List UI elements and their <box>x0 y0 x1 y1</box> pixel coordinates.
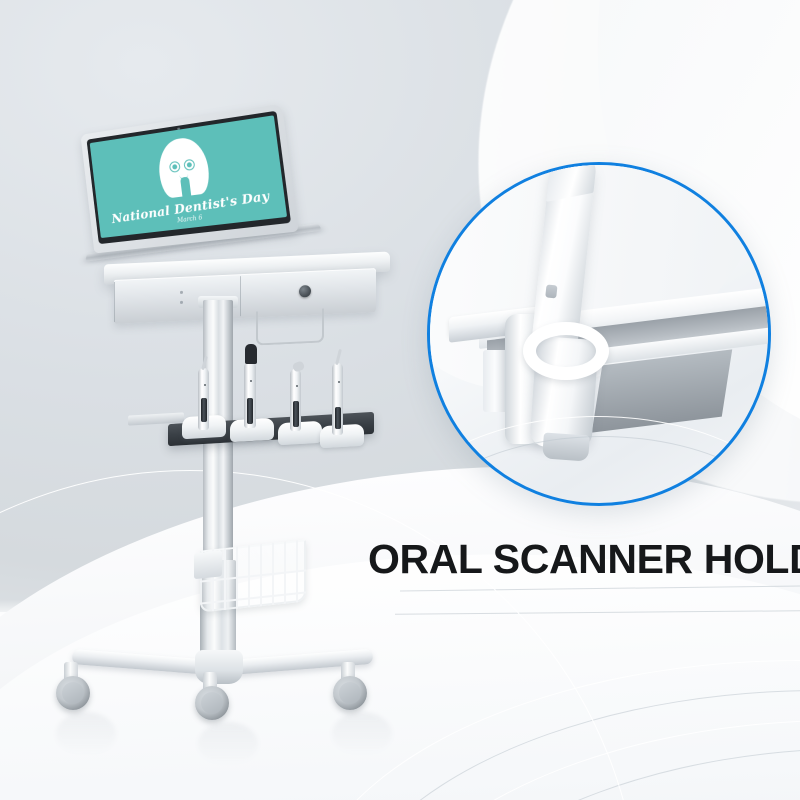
dental-mobile-cart: National Dentist's Day March 6 <box>0 0 430 800</box>
caster-tire-center <box>195 686 229 720</box>
tooth-mascot-icon <box>156 135 212 199</box>
laptop: National Dentist's Day March 6 <box>74 105 305 272</box>
laptop-bezel: National Dentist's Day March 6 <box>87 111 292 244</box>
page-title: ORAL SCANNER HOLDER <box>368 536 800 583</box>
handpiece-2-cap-icon <box>245 344 257 364</box>
floor-reflection-right <box>332 712 392 756</box>
product-banner: National Dentist's Day March 6 <box>0 0 800 800</box>
screen-subtitle: March 6 <box>177 214 203 224</box>
caster-tire-left <box>56 676 90 710</box>
detail-zoom-circle <box>427 162 771 506</box>
floor-reflection-left <box>56 712 116 756</box>
drawer-lock-icon[interactable] <box>299 285 311 298</box>
caster-hub-center <box>201 692 223 714</box>
drawer-seam-right <box>240 276 241 316</box>
callout-bottom-arcs <box>427 406 771 506</box>
floor-reflection-center <box>198 722 258 766</box>
wire-storage-basket[interactable] <box>200 539 306 612</box>
drawer-seam-left <box>114 282 115 322</box>
handpiece-4-grip <box>335 407 341 429</box>
scanner-button[interactable] <box>545 284 557 298</box>
vent-hole-2 <box>180 301 183 304</box>
caster-tire-right <box>333 676 367 710</box>
laptop-lid: National Dentist's Day March 6 <box>80 104 298 254</box>
vent-hole-1 <box>180 291 183 294</box>
handpiece-2-grip <box>247 398 253 424</box>
clip-holder-ring <box>523 322 609 380</box>
handpiece-1-grip <box>201 398 207 422</box>
caster-hub-left <box>62 682 84 704</box>
handpiece-3-grip <box>293 401 299 427</box>
callout-contents <box>427 162 771 506</box>
handpiece-4-probe-icon <box>335 349 342 365</box>
basket-column-mount <box>194 550 222 579</box>
instrument-group <box>168 332 378 440</box>
scanner-wand-tip-icon <box>546 162 597 202</box>
laptop-screen: National Dentist's Day March 6 <box>90 115 287 238</box>
caster-hub-right <box>339 682 361 704</box>
